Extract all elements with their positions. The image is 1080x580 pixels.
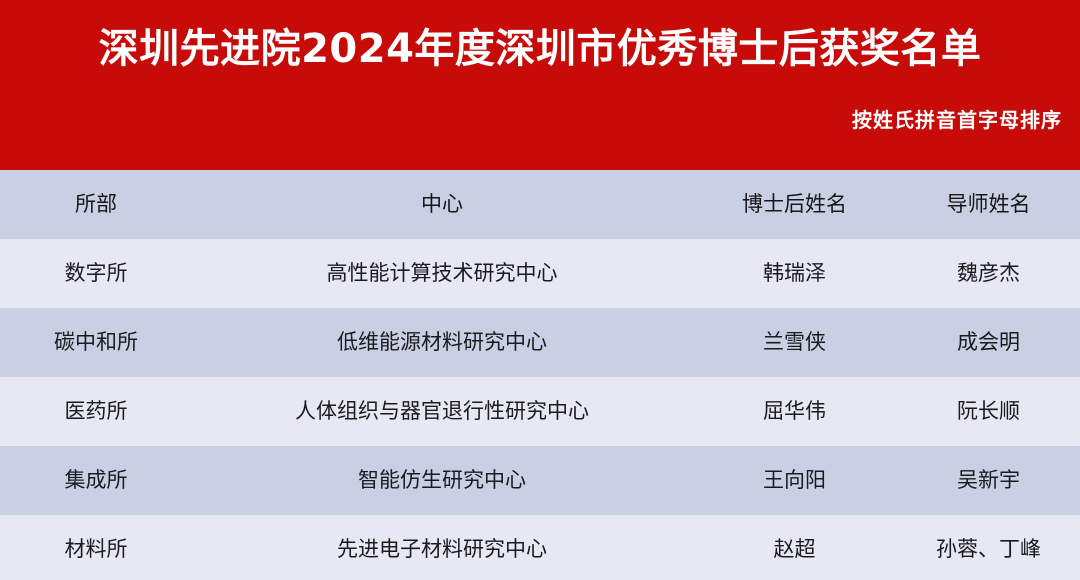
cell-name: 屈华伟	[692, 399, 897, 424]
cell-center: 低维能源材料研究中心	[192, 330, 692, 355]
table-header-row: 所部 中心 博士后姓名 导师姓名	[0, 170, 1080, 239]
cell-center: 人体组织与器官退行性研究中心	[192, 399, 692, 424]
cell-name: 赵超	[692, 537, 897, 562]
cell-dept: 数字所	[0, 261, 192, 286]
column-header-mentor: 导师姓名	[897, 192, 1080, 217]
column-header-center: 中心	[192, 192, 692, 217]
table-row: 材料所 先进电子材料研究中心 赵超 孙蓉、丁峰	[0, 515, 1080, 580]
cell-dept: 集成所	[0, 468, 192, 493]
award-table: 所部 中心 博士后姓名 导师姓名 数字所 高性能计算技术研究中心 韩瑞泽 魏彦杰…	[0, 170, 1080, 580]
cell-mentor: 魏彦杰	[897, 261, 1080, 286]
column-header-name: 博士后姓名	[692, 192, 897, 217]
banner: 深圳先进院2024年度深圳市优秀博士后获奖名单 按姓氏拼音首字母排序	[0, 0, 1080, 170]
cell-dept: 医药所	[0, 399, 192, 424]
banner-subtitle: 按姓氏拼音首字母排序	[852, 104, 1062, 133]
cell-mentor: 成会明	[897, 330, 1080, 355]
cell-dept: 材料所	[0, 537, 192, 562]
cell-name: 兰雪侠	[692, 330, 897, 355]
cell-dept: 碳中和所	[0, 330, 192, 355]
column-header-dept: 所部	[0, 192, 192, 217]
cell-center: 高性能计算技术研究中心	[192, 261, 692, 286]
table-row: 医药所 人体组织与器官退行性研究中心 屈华伟 阮长顺	[0, 377, 1080, 446]
cell-center: 智能仿生研究中心	[192, 468, 692, 493]
page-title: 深圳先进院2024年度深圳市优秀博士后获奖名单	[0, 26, 1080, 72]
cell-name: 韩瑞泽	[692, 261, 897, 286]
cell-name: 王向阳	[692, 468, 897, 493]
cell-center: 先进电子材料研究中心	[192, 537, 692, 562]
cell-mentor: 孙蓉、丁峰	[897, 537, 1080, 562]
table-row: 碳中和所 低维能源材料研究中心 兰雪侠 成会明	[0, 308, 1080, 377]
cell-mentor: 阮长顺	[897, 399, 1080, 424]
table-row: 数字所 高性能计算技术研究中心 韩瑞泽 魏彦杰	[0, 239, 1080, 308]
award-list-page: 深圳先进院2024年度深圳市优秀博士后获奖名单 按姓氏拼音首字母排序 所部 中心…	[0, 0, 1080, 580]
table-row: 集成所 智能仿生研究中心 王向阳 吴新宇	[0, 446, 1080, 515]
cell-mentor: 吴新宇	[897, 468, 1080, 493]
